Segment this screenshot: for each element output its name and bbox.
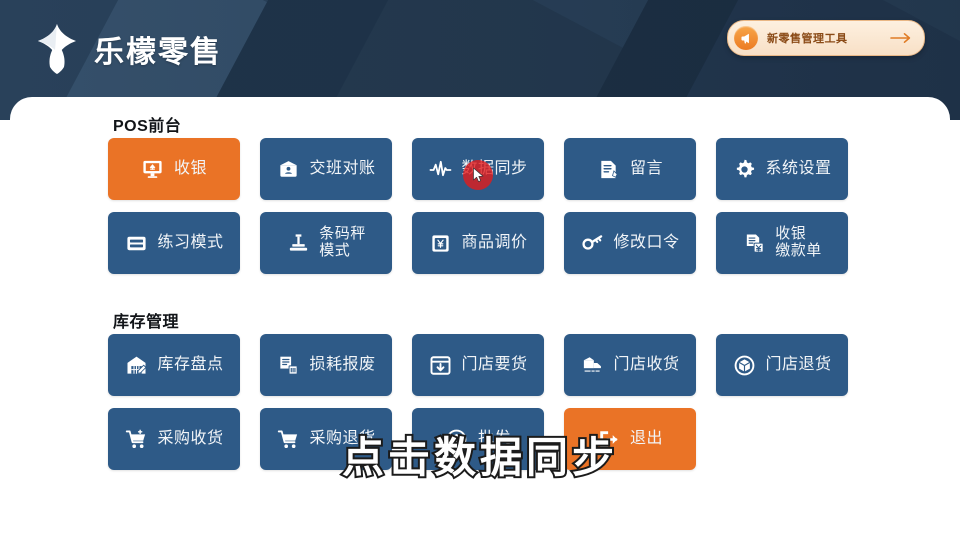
tile-payment-slip[interactable]: 收银 缴款单: [716, 212, 848, 274]
tile-delivery-truck[interactable]: 门店收货: [564, 334, 696, 396]
loss-scrap-icon: [276, 353, 300, 377]
message-note-icon: [597, 157, 621, 181]
tile-label: 数据同步: [461, 160, 527, 178]
section-title-stock: 库存管理: [113, 308, 179, 332]
return-box-icon: [732, 353, 756, 377]
tile-cashier-monitor[interactable]: 收银: [108, 138, 240, 200]
warehouse-check-icon: [124, 353, 148, 377]
tile-label: 门店要货: [461, 356, 527, 374]
tile-return-box[interactable]: 门店退货: [716, 334, 848, 396]
practice-card-icon: [124, 231, 148, 255]
tile-shift-handover[interactable]: 交班对账: [260, 138, 392, 200]
tile-label: 练习模式: [157, 234, 223, 252]
payment-slip-icon: [742, 231, 766, 255]
tile-label: 系统设置: [765, 160, 831, 178]
tile-gear[interactable]: 系统设置: [716, 138, 848, 200]
tile-barcode-scale[interactable]: 条码秤 模式: [260, 212, 392, 274]
tile-loss-scrap[interactable]: 损耗报废: [260, 334, 392, 396]
tile-price-tag-yuan[interactable]: 商品调价: [412, 212, 544, 274]
price-tag-yuan-icon: [428, 231, 452, 255]
brand: 乐檬零售: [34, 23, 222, 75]
tile-message-note[interactable]: 留言: [564, 138, 696, 200]
tile-label: 条码秤 模式: [319, 226, 366, 260]
tile-label: 留言: [630, 160, 663, 178]
tile-label: 商品调价: [461, 234, 527, 252]
tile-label: 收银: [174, 160, 207, 178]
app-root: 乐檬零售 新零售管理工具 POS前台 收银交班对账数据同步留言系统设置练习模式条…: [0, 0, 960, 544]
tile-label: 损耗报废: [309, 356, 375, 374]
delivery-truck-icon: [580, 353, 604, 377]
cashier-monitor-icon: [141, 157, 165, 181]
gear-icon: [732, 157, 756, 181]
tile-label: 门店退货: [765, 356, 831, 374]
megaphone-icon: [734, 26, 758, 50]
tile-label: 库存盘点: [157, 356, 223, 374]
promo-label: 新零售管理工具: [767, 30, 848, 46]
tile-request-goods[interactable]: 门店要货: [412, 334, 544, 396]
shift-handover-icon: [276, 157, 300, 181]
barcode-scale-icon: [286, 231, 310, 255]
section-title-pos: POS前台: [113, 112, 181, 136]
tile-label: 交班对账: [309, 160, 375, 178]
tile-pulse-sync[interactable]: 数据同步: [412, 138, 544, 200]
promo-badge[interactable]: 新零售管理工具: [727, 20, 925, 56]
request-goods-icon: [428, 353, 452, 377]
tile-warehouse-check[interactable]: 库存盘点: [108, 334, 240, 396]
pulse-sync-icon: [428, 157, 452, 181]
brand-name: 乐檬零售: [94, 27, 222, 71]
tile-label: 修改口令: [613, 234, 679, 252]
tile-label: 门店收货: [613, 356, 679, 374]
tile-grid-pos: 收银交班对账数据同步留言系统设置练习模式条码秤 模式商品调价修改口令收银 缴款单: [108, 138, 848, 274]
tutorial-caption: 点击数据同步: [0, 424, 960, 485]
tile-key[interactable]: 修改口令: [564, 212, 696, 274]
tile-label: 收银 缴款单: [775, 226, 822, 260]
arrow-right-icon: [890, 32, 912, 44]
tile-practice-card[interactable]: 练习模式: [108, 212, 240, 274]
leaf-diamond-logo-icon: [34, 23, 80, 75]
key-icon: [580, 231, 604, 255]
